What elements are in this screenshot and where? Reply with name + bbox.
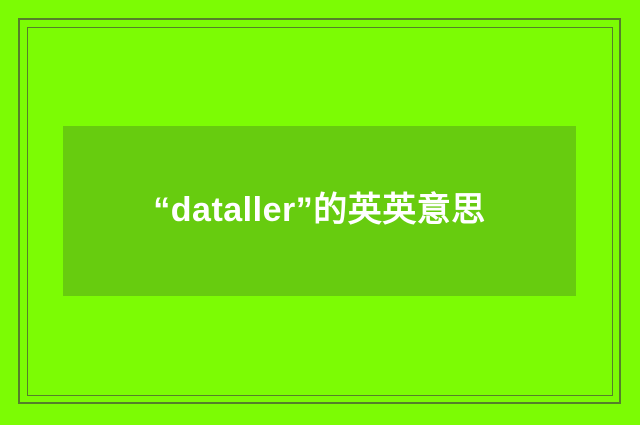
page-title: “dataller”的英英意思 — [63, 183, 576, 238]
title-panel: “dataller”的英英意思 — [63, 126, 576, 296]
title-card: “dataller”的英英意思 — [0, 0, 640, 425]
